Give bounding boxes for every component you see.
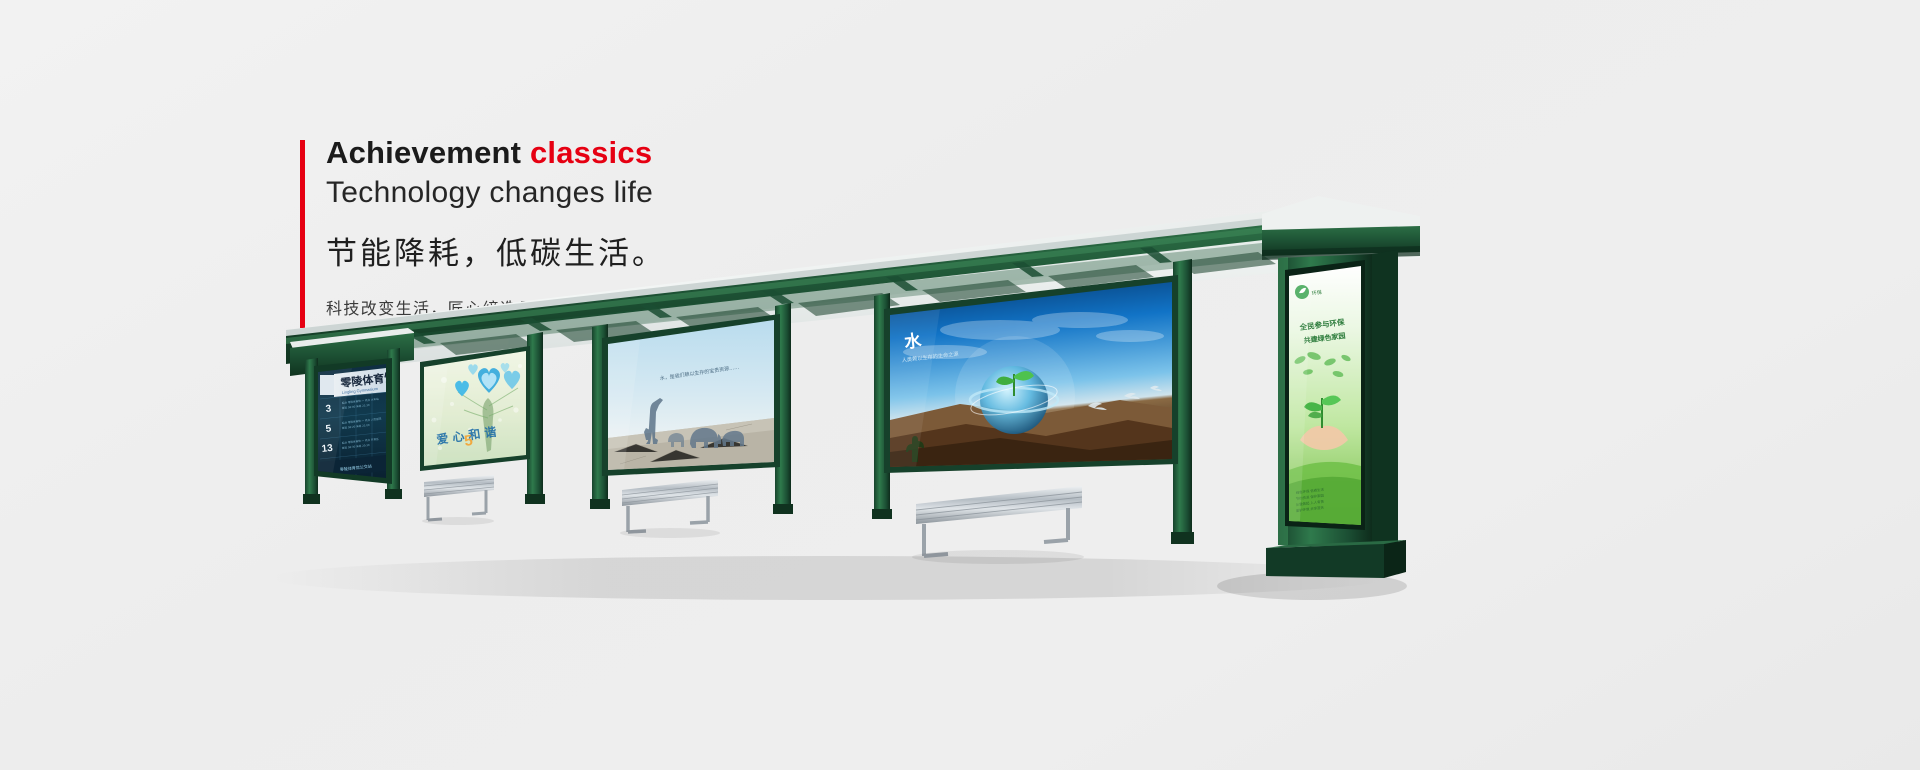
bench-2-leg-right [690, 496, 708, 523]
bench-2-leg-left [628, 506, 646, 532]
kiosk-body-side [1372, 250, 1398, 548]
bench-1-seat [424, 475, 494, 497]
bus-shelter-illustration: 零陵体育馆 Lingling Gymnasium 3 5 13 23 [0, 0, 1920, 770]
panel-route-board[interactable]: 零陵体育馆 Lingling Gymnasium 3 5 13 23 [314, 358, 396, 484]
bench-1-leg-right [472, 490, 486, 514]
kiosk-logo-cn: 环保 [1311, 289, 1322, 297]
bench-3-leg-right [1044, 508, 1068, 542]
bench-3-leg-left [924, 524, 948, 556]
bench-1-leg-left [428, 497, 442, 520]
panel-ad-hearts[interactable]: 爱 心 和 谐 5 [420, 346, 530, 471]
panel-ad-water[interactable]: 水 人类赖以生存的生命之源 [884, 275, 1178, 473]
bench-2-seat [622, 479, 718, 506]
product-render-canvas: Achievement classics Technology changes … [0, 0, 1920, 770]
bench-3 [916, 486, 1082, 556]
kiosk-base [1266, 544, 1384, 578]
ground-shadow [270, 556, 1390, 600]
bench-1 [424, 475, 494, 520]
panel-ad-animals[interactable]: 水，是我们赖以生存的宝贵资源…… [602, 314, 780, 476]
kiosk-eco[interactable]: 环保 全民参与环保 共建绿色家园 [1262, 196, 1420, 578]
kiosk-base-side [1384, 540, 1406, 578]
bench-2 [622, 479, 718, 532]
